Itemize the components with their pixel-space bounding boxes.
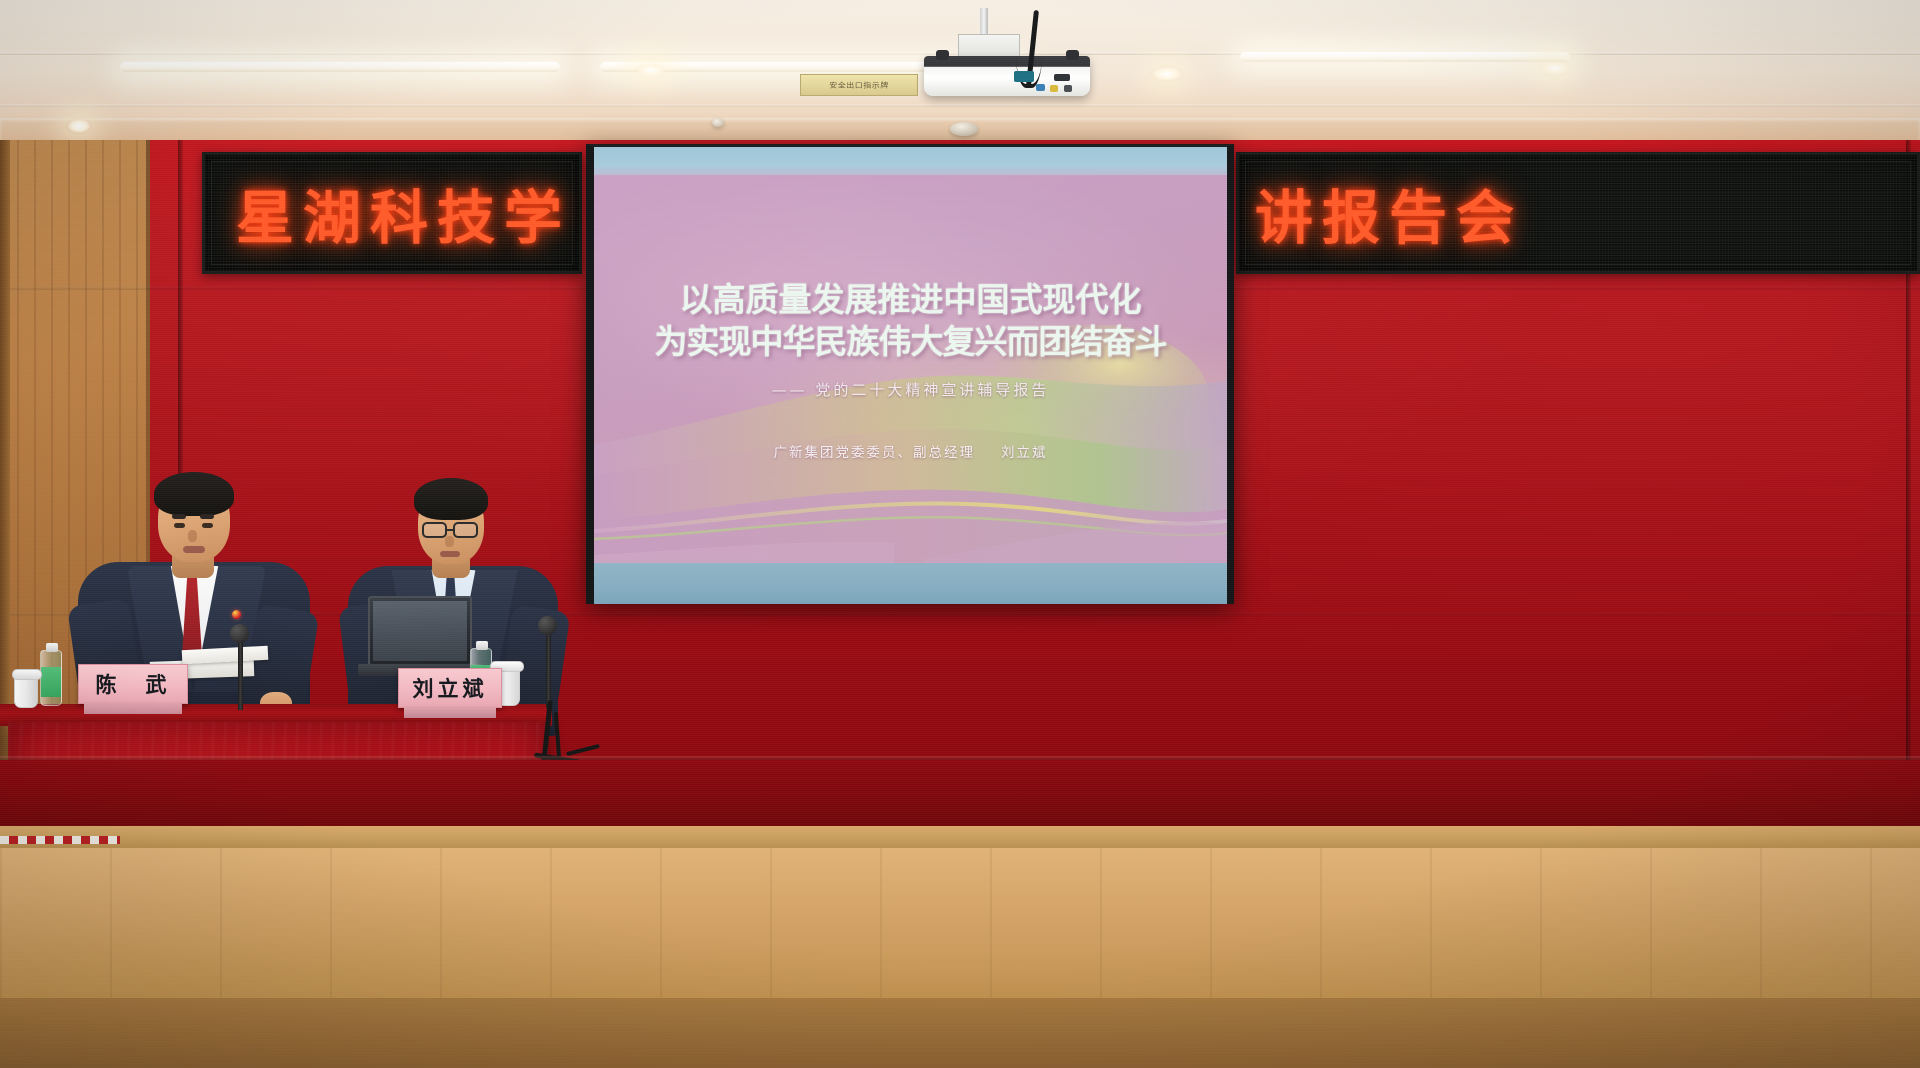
ceiling-fixture — [712, 118, 724, 127]
nose — [445, 536, 454, 547]
ceiling-tube-light — [1240, 52, 1570, 62]
ceiling-downlight — [1538, 60, 1572, 76]
projector-knob — [1066, 50, 1079, 60]
wall-edge — [0, 140, 10, 760]
microphone-head — [538, 616, 557, 635]
led-banner-right: 讲报告会 — [1236, 152, 1920, 274]
ceiling-downlight — [66, 118, 92, 134]
nameplate-right: 刘立斌 — [398, 668, 502, 708]
led-banner-left: 星湖科技学 — [202, 152, 582, 274]
stage-edge-tape — [0, 836, 120, 844]
smoke-detector-icon — [950, 122, 978, 136]
microphone-stand — [238, 636, 243, 710]
nameplate-left-text: 陈 武 — [96, 669, 171, 699]
led-banner-right-text: 讲报告会 — [1255, 171, 1523, 255]
nameplate-left: 陈 武 — [78, 664, 188, 704]
nameplate-right-text: 刘立斌 — [413, 673, 488, 703]
hair — [414, 478, 488, 520]
mug-lid — [12, 669, 42, 680]
eyeglasses-bridge — [447, 529, 455, 531]
lapel-pin-icon — [232, 610, 241, 619]
nameplate-stand — [404, 706, 496, 718]
nose — [188, 530, 197, 542]
eyebrow — [200, 514, 214, 519]
eye — [174, 523, 185, 528]
floor-foreground — [0, 998, 1920, 1068]
conference-hall-photo: 安全出口指示牌 星湖科技学 讲报告会 — [0, 0, 1920, 1068]
laptop-display — [373, 601, 467, 661]
mouth — [440, 551, 460, 557]
ceiling-projector — [918, 8, 1098, 108]
projector-port — [1050, 85, 1058, 92]
ceiling-tube-light — [120, 62, 560, 72]
eye — [202, 523, 213, 528]
ceiling-sign-label: 安全出口指示牌 — [829, 80, 889, 89]
floor-trim — [0, 826, 1920, 848]
stage-front-panel — [0, 760, 1920, 826]
laptop-screen — [368, 596, 472, 666]
eyeglasses-icon — [453, 522, 478, 538]
bottle-cap — [476, 641, 488, 650]
ceiling-downlight — [634, 62, 668, 78]
projector-knob — [936, 50, 949, 60]
mouth — [183, 546, 205, 553]
projector-port — [1064, 85, 1072, 92]
projector-port — [1014, 71, 1034, 82]
bottle-cap — [46, 643, 58, 652]
projection-screen-bezel — [586, 144, 1234, 604]
projector-port — [1036, 84, 1045, 91]
ceiling-downlight — [1150, 66, 1184, 82]
water-bottle — [40, 650, 62, 706]
led-banner-left-text: 星湖科技学 — [236, 171, 571, 255]
nameplate-stand — [84, 702, 182, 714]
hair — [154, 472, 234, 516]
stage-floor — [0, 848, 1920, 998]
microphone-head — [230, 624, 249, 643]
eyeglasses-icon — [422, 522, 447, 538]
bottle-label — [41, 667, 61, 697]
projector-port — [1054, 74, 1070, 81]
eyebrow — [172, 514, 186, 519]
microphone-stand — [546, 628, 551, 708]
ceiling-sign: 安全出口指示牌 — [800, 74, 918, 96]
tea-mug — [14, 676, 38, 708]
